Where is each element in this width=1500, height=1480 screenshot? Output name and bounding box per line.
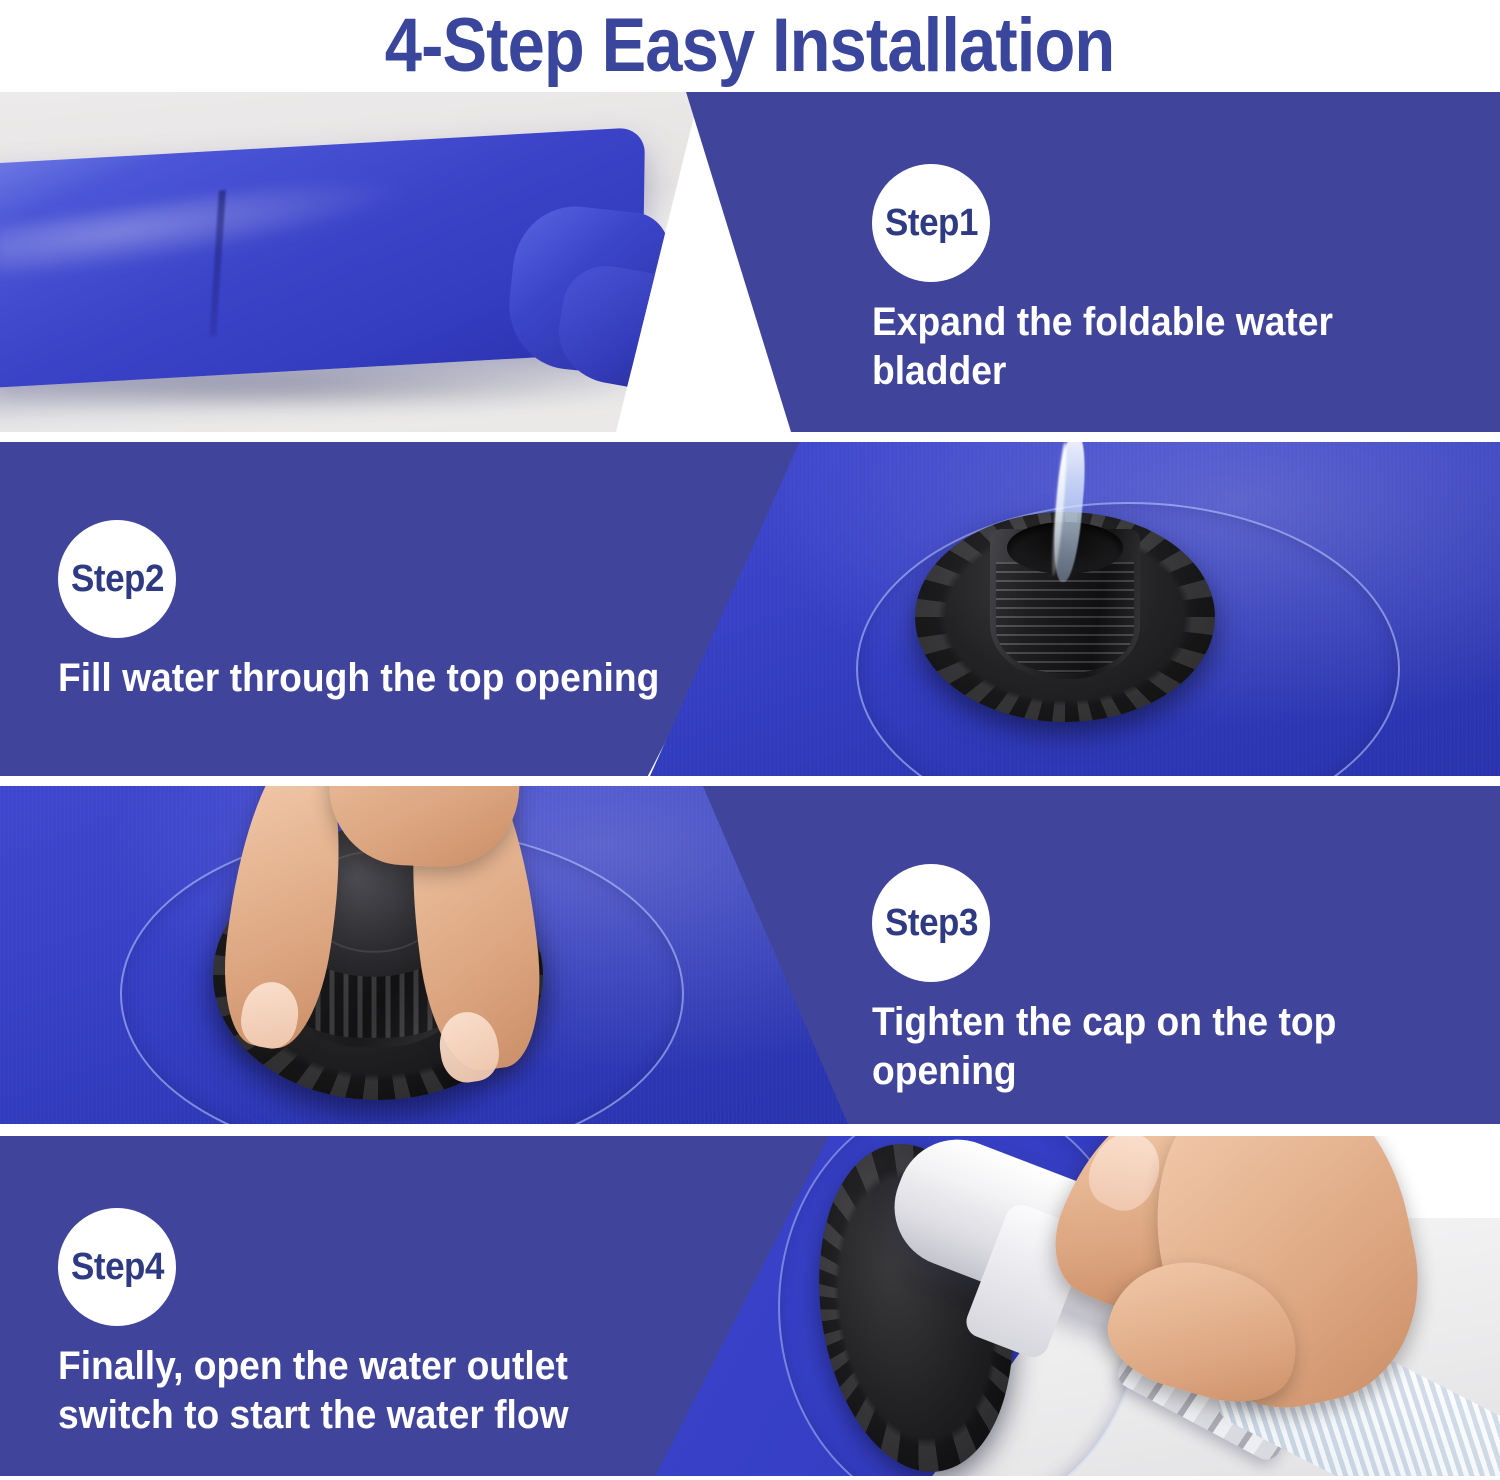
step-2-caption: Fill water through the top opening: [58, 654, 659, 703]
step-2-badge: Step2: [58, 520, 176, 638]
step-4-caption: Finally, open the water outlet switch to…: [58, 1342, 569, 1440]
step-row-3: Step3 Tighten the cap on the top opening: [0, 786, 1500, 1124]
step-2-content: Step2 Fill water through the top opening: [58, 520, 705, 703]
header-bar: 4-Step Easy Installation: [0, 0, 1500, 92]
step-3-content: Step3 Tighten the cap on the top opening: [872, 864, 1500, 1096]
step-3-caption: Tighten the cap on the top opening: [872, 998, 1456, 1096]
step-1-content: Step1 Expand the foldable water bladder: [872, 164, 1500, 396]
step-4-badge: Step4: [58, 1208, 176, 1326]
step-row-1: Step1 Expand the foldable water bladder: [0, 92, 1500, 432]
step-4-content: Step4 Finally, open the water outlet swi…: [58, 1208, 607, 1440]
bladder-highlight: [0, 168, 411, 286]
step-2-badge-label: Step2: [71, 558, 164, 601]
step-1-photo: [0, 92, 700, 432]
page-title: 4-Step Easy Installation: [385, 8, 1115, 84]
step-row-2: Step2 Fill water through the top opening: [0, 442, 1500, 776]
step-4-badge-label: Step4: [71, 1246, 164, 1289]
step-1-badge-label: Step1: [885, 202, 978, 245]
step-3-badge-label: Step3: [885, 902, 978, 945]
step-1-caption: Expand the foldable water bladder: [872, 298, 1456, 396]
step-1-badge: Step1: [872, 164, 990, 282]
step-3-badge: Step3: [872, 864, 990, 982]
step-row-4: Step4 Finally, open the water outlet swi…: [0, 1136, 1500, 1476]
